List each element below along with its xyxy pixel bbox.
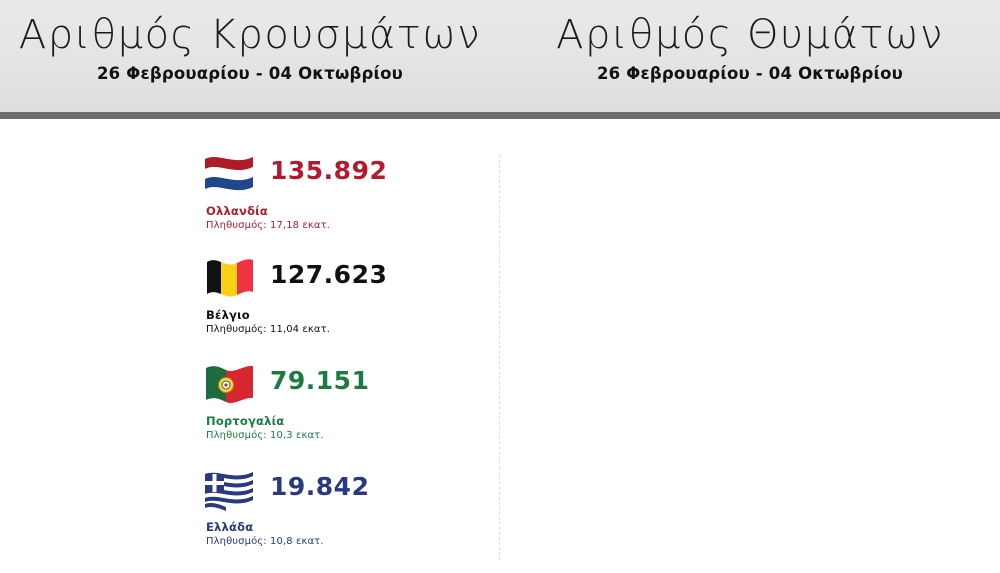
country-label: Βέλγιο	[206, 308, 250, 322]
population-label: Πληθυσμός: 11,04 εκατ.	[206, 324, 330, 335]
population-label: Πληθυσμός: 10,3 εκατ.	[206, 430, 324, 441]
table-row: 135.892 Ολλανδία Πληθυσμός: 17,18 εκατ.	[200, 152, 540, 257]
belgium-flag	[200, 256, 258, 302]
table-row: 19.842 Ελλάδα Πληθυσμός: 10,8 εκατ.	[200, 468, 540, 573]
netherlands-flag	[200, 152, 258, 198]
value-text: 127.623	[270, 260, 387, 289]
page-title-deaths: Αριθμός Θυμάτων	[556, 14, 944, 56]
value-text: 135.892	[270, 156, 387, 185]
greece-flag	[200, 468, 258, 514]
country-label: Πορτογαλία	[206, 414, 284, 428]
population-label: Πληθυσμός: 17,18 εκατ.	[206, 220, 330, 231]
population-label: Πληθυσμός: 10,8 εκατ.	[206, 536, 324, 547]
country-label: Ολλανδία	[206, 204, 268, 218]
cases-column: 135.892 Ολλανδία Πληθυσμός: 17,18 εκατ. …	[0, 119, 500, 566]
table-row: 79.151 Πορτογαλία Πληθυσμός: 10,3 εκατ.	[200, 362, 540, 467]
chart-body: 135.892 Ολλανδία Πληθυσμός: 17,18 εκατ. …	[0, 119, 1000, 566]
header-column-cases: Αριθμός Κρουσμάτων 26 Φεβρουαρίου - 04 Ο…	[0, 0, 500, 112]
country-label: Ελλάδα	[206, 520, 253, 534]
table-row: 127.623 Βέλγιο Πληθυσμός: 11,04 εκατ.	[200, 256, 540, 361]
value-text: 19.842	[270, 472, 369, 501]
header-column-deaths: Αριθμός Θυμάτων 26 Φεβρουαρίου - 04 Οκτω…	[500, 0, 1000, 112]
header-divider-rule	[0, 112, 1000, 119]
header-band: Αριθμός Κρουσμάτων 26 Φεβρουαρίου - 04 Ο…	[0, 0, 1000, 112]
portugal-flag	[200, 362, 258, 408]
page-subtitle-cases: 26 Φεβρουαρίου - 04 Οκτωβρίου	[97, 64, 403, 83]
value-text: 79.151	[270, 366, 369, 395]
deaths-column: 10044 Βέλγιο Πληθυσμός: 11,04 εκατ. 6454…	[500, 119, 1000, 566]
page-subtitle-deaths: 26 Φεβρουαρίου - 04 Οκτωβρίου	[597, 64, 903, 83]
page-title-cases: Αριθμός Κρουσμάτων	[19, 14, 481, 56]
